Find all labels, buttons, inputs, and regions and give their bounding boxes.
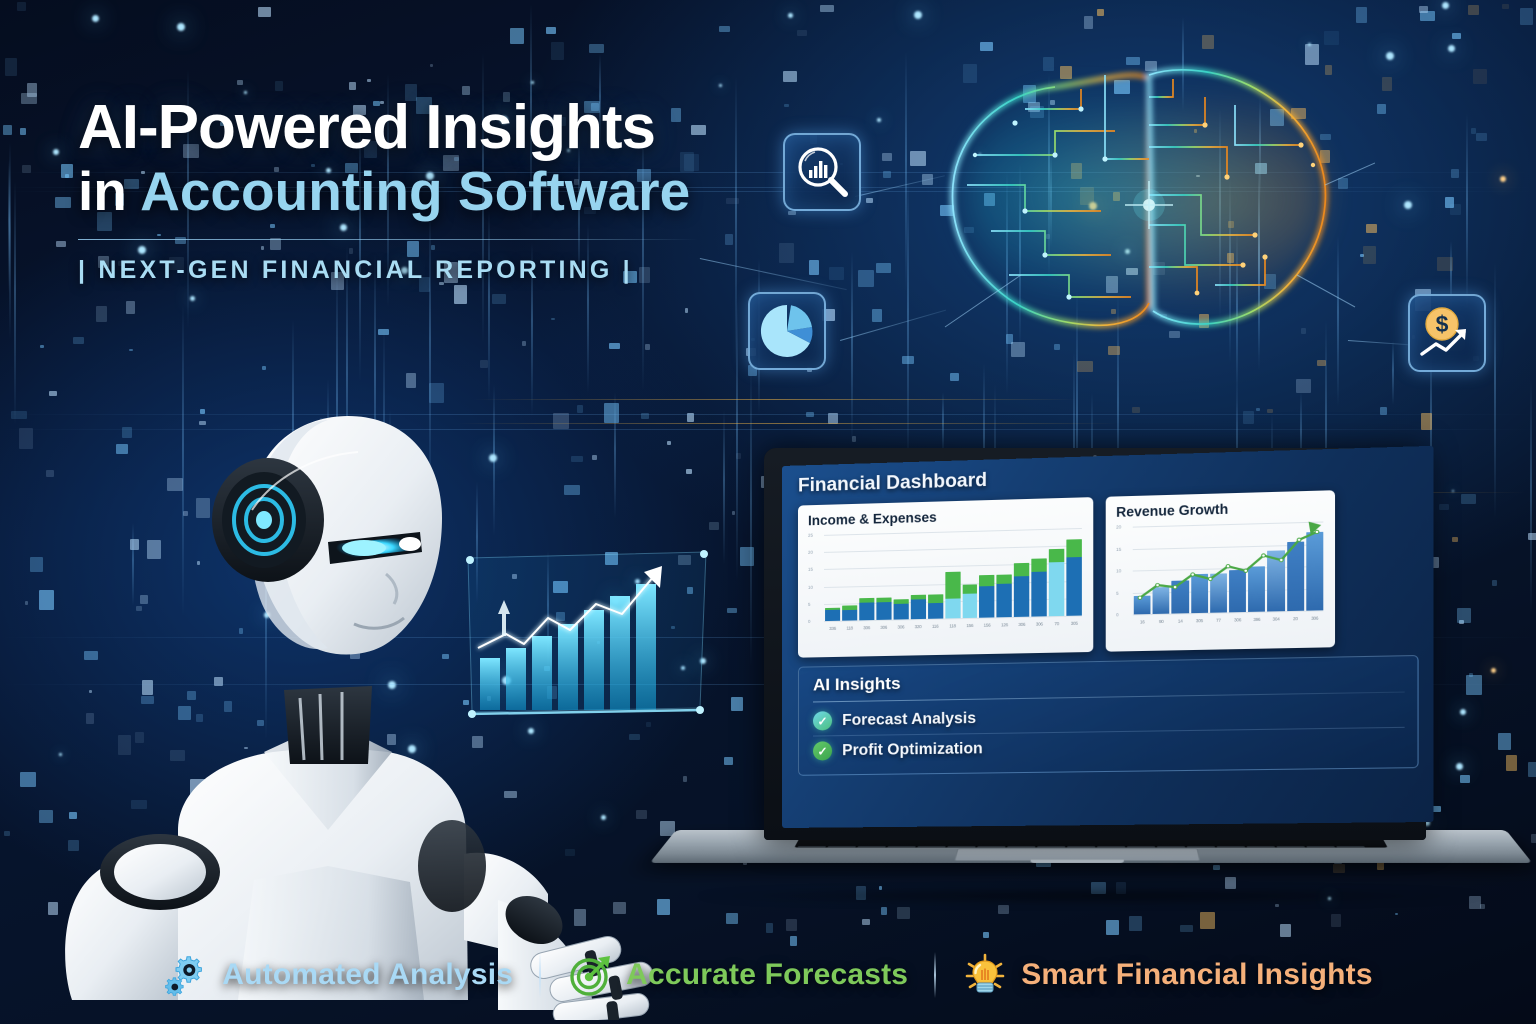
feature-accurate-forecasts[interactable]: Accurate Forecasts xyxy=(541,952,934,998)
svg-text:$: $ xyxy=(1436,311,1449,337)
hero-heading-block: AI-Powered Insights in Accounting Softwa… xyxy=(78,96,738,285)
chart-card-row: Income & Expenses 0510152025336118306306… xyxy=(798,488,1419,658)
financial-dashboard-app: Financial Dashboard Income & Expenses 05… xyxy=(782,446,1434,828)
feature-label: Smart Financial Insights xyxy=(1021,958,1373,992)
insight-label: Profit Optimization xyxy=(842,740,983,760)
revenue-growth-title: Revenue Growth xyxy=(1116,499,1325,520)
ai-circuit-brain xyxy=(905,35,1375,355)
feature-bar: Automated Analysis Accurate Forecasts xyxy=(0,952,1536,998)
feature-automated-analysis[interactable]: Automated Analysis xyxy=(137,952,539,998)
magnifier-bar-chart-tile[interactable] xyxy=(783,133,861,211)
feature-label: Automated Analysis xyxy=(222,958,513,992)
laptop-latch-notch xyxy=(1030,860,1124,863)
check-icon: ✓ xyxy=(813,741,832,760)
check-icon: ✓ xyxy=(813,711,832,730)
insight-label: Forecast Analysis xyxy=(842,709,976,729)
income-expenses-card[interactable]: Income & Expenses 0510152025336118306306… xyxy=(798,497,1093,658)
page-title: AI-Powered Insights xyxy=(78,96,738,159)
feature-smart-financial-insights[interactable]: Smart Financial Insights xyxy=(936,952,1399,998)
revenue-growth-card[interactable]: Revenue Growth 0510152016901430577306396… xyxy=(1106,490,1335,652)
dollar-growth-icon: $ xyxy=(1410,296,1484,370)
pie-chart-icon xyxy=(750,294,824,368)
subtitle-prefix: in xyxy=(78,160,140,222)
humanoid-robot xyxy=(28,360,728,1020)
dollar-growth-tile[interactable]: $ xyxy=(1408,294,1486,372)
gears-icon xyxy=(163,952,209,998)
brain-circuit-svg xyxy=(905,35,1375,355)
target-icon xyxy=(567,952,613,998)
laptop-shadow xyxy=(686,888,1496,904)
subtitle-accent: Accounting Software xyxy=(140,160,690,222)
laptop-screen: Financial Dashboard Income & Expenses 05… xyxy=(764,448,1426,840)
ai-insights-panel: AI Insights ✓ Forecast Analysis ✓ Profit… xyxy=(798,655,1419,776)
title-divider xyxy=(78,239,698,240)
ai-insights-title: AI Insights xyxy=(813,665,1405,696)
lightbulb-icon xyxy=(962,952,1008,998)
page-subtitle: in Accounting Software xyxy=(78,163,738,221)
feature-label: Accurate Forecasts xyxy=(626,958,908,992)
revenue-growth-plot: 051015201690143057730639630420306 xyxy=(1116,519,1325,625)
income-expenses-title: Income & Expenses xyxy=(808,506,1084,529)
income-expenses-plot: 0510152025336118306306306320116118156156… xyxy=(808,526,1084,632)
laptop: Financial Dashboard Income & Expenses 05… xyxy=(676,440,1506,920)
poster-canvas: AI-Powered Insights in Accounting Softwa… xyxy=(0,0,1536,1024)
magnifier-bar-chart-icon xyxy=(785,135,859,209)
robot-svg xyxy=(28,360,728,1020)
kicker-text: | NEXT-GEN FINANCIAL REPORTING | xyxy=(78,256,738,285)
pie-chart-tile[interactable] xyxy=(748,292,826,370)
